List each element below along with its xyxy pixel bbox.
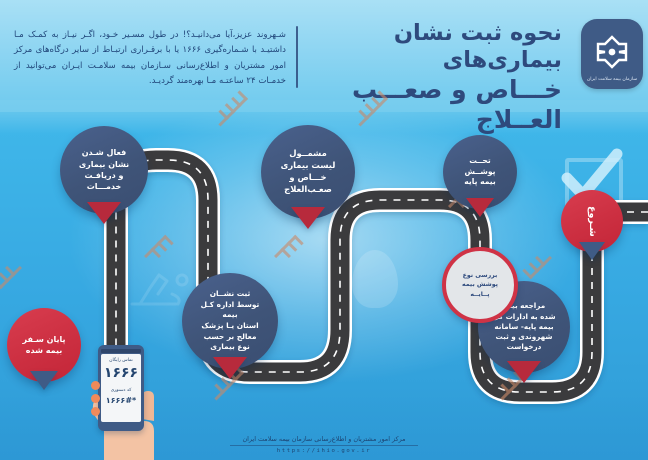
- flow-step-mark-activated-label: فعال شـدننشان بیماریو دریافـتخدمـــات: [67, 147, 141, 192]
- flow-step-included-in-disease-list[interactable]: مشمــوللیست بیماریخـــاص وصعـب‌العلاج: [261, 125, 355, 219]
- footer: مرکز امور مشتریان و اطلاع‌رسانی سازمان ب…: [0, 435, 648, 454]
- finger-dots-decoration: [91, 381, 100, 420]
- flow-step-covered-tip: [466, 198, 494, 217]
- infographic-canvas: نحوه ثبت نشان بیماری‌های خـــاص و صعـــب…: [0, 0, 648, 460]
- flow-step-included-tip: [291, 207, 325, 229]
- phone-call-number: ۱۶۶۶: [101, 365, 141, 381]
- phone-call-label: تماس رایگان: [101, 358, 141, 363]
- flow-step-check-coverage-type-label: بررسی نوعپوشش بیمهپــایــه: [462, 271, 498, 299]
- flow-step-register-mark-tip: [213, 357, 247, 379]
- flow-step-covered-label: تحــتپوشــشبیمه پایه: [452, 156, 507, 188]
- flow-step-included-label: مشمــوللیست بیماریخـــاص وصعـب‌العلاج: [269, 148, 348, 196]
- flow-step-covered-by-basic-insurance[interactable]: تحــتپوشــشبیمه پایه: [443, 135, 517, 209]
- flow-step-start[interactable]: شـروع: [561, 190, 623, 252]
- phone-body: تماس رایگان ۱۶۶۶ کد دستوری *۱۶۶۶#: [98, 345, 144, 431]
- flow-step-included-bulb: مشمــوللیست بیماریخـــاص وصعـب‌العلاج: [261, 125, 355, 219]
- phone-ussd-label: کد دستوری: [101, 388, 141, 393]
- flow-step-start-label: شـروع: [579, 206, 604, 237]
- flow-step-mark-activated-bulb: فعال شـدننشان بیماریو دریافـتخدمـــات: [60, 126, 148, 214]
- footer-rule: [230, 445, 418, 446]
- flow-step-end-label: پایان سـفربیمه شده: [11, 334, 78, 357]
- flow-step-mark-activated[interactable]: فعال شـدننشان بیماریو دریافـتخدمـــات: [60, 126, 148, 214]
- flow-step-start-tip: [579, 242, 605, 260]
- footer-organization: مرکز امور مشتریان و اطلاع‌رسانی سازمان ب…: [0, 435, 648, 443]
- phone-ussd-code: *۱۶۶۶#: [101, 396, 141, 405]
- flow-step-check-coverage-type[interactable]: بررسی نوعپوشش بیمهپــایــه: [442, 247, 518, 323]
- flow-step-end-tip: [30, 371, 58, 390]
- flow-step-register-mark-label: ثبت نشــانتوسط اداره کـل بیمهاستان یـا پ…: [182, 289, 278, 352]
- footer-url[interactable]: https://ihio.gov.ir: [0, 448, 648, 454]
- flow-step-request-registration-tip: [507, 361, 541, 383]
- flow-step-mark-activated-tip: [87, 202, 121, 224]
- phone-status-bar: [101, 349, 141, 354]
- phone-screen: تماس رایگان ۱۶۶۶ کد دستوری *۱۶۶۶#: [101, 354, 141, 422]
- flow-step-end-of-journey[interactable]: پایان سـفربیمه شده: [7, 308, 81, 382]
